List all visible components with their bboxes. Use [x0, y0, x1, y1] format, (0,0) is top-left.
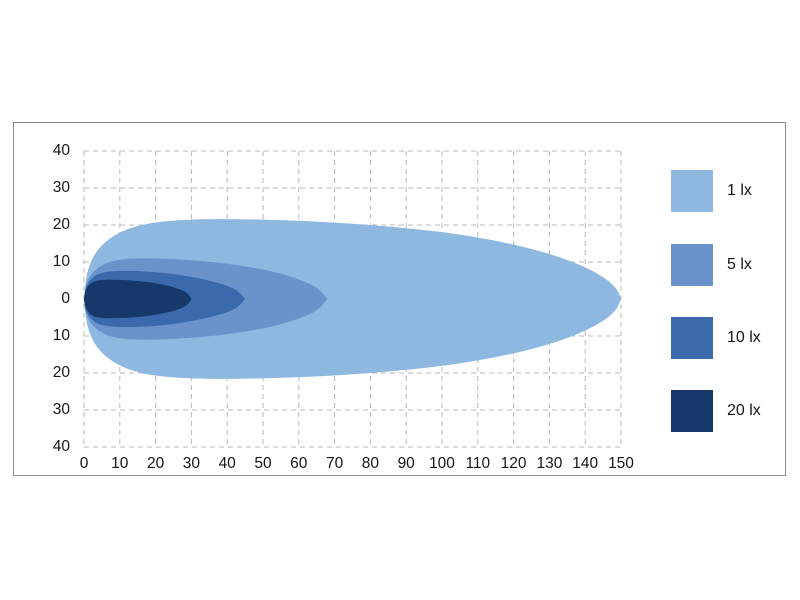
- x-tick-label: 40: [219, 456, 236, 472]
- y-tick-label: 40: [28, 143, 70, 159]
- y-tick-label: 0: [28, 291, 70, 307]
- legend-label-10lx: 10 lx: [727, 329, 761, 347]
- legend-item-10lx[interactable]: 10 lx: [671, 317, 761, 359]
- x-tick-label: 30: [183, 456, 200, 472]
- x-tick-label: 50: [254, 456, 271, 472]
- legend-item-20lx[interactable]: 20 lx: [671, 390, 761, 432]
- y-tick-label: 30: [28, 402, 70, 418]
- legend-item-5lx[interactable]: 5 lx: [671, 244, 752, 286]
- legend-label-1lx: 1 lx: [727, 182, 752, 200]
- x-tick-label: 10: [111, 456, 128, 472]
- x-tick-label: 130: [536, 456, 562, 472]
- legend-swatch-1lx: [671, 170, 713, 212]
- x-tick-label: 100: [429, 456, 455, 472]
- y-tick-label: 30: [28, 180, 70, 196]
- y-tick-label: 20: [28, 217, 70, 233]
- legend-swatch-20lx: [671, 390, 713, 432]
- x-tick-label: 60: [290, 456, 307, 472]
- y-tick-label: 10: [28, 254, 70, 270]
- legend-swatch-10lx: [671, 317, 713, 359]
- light-distribution-chart-page: 40302010010203040 0102030405060708090100…: [0, 0, 800, 600]
- x-tick-label: 0: [80, 456, 89, 472]
- x-tick-label: 90: [398, 456, 415, 472]
- x-tick-label: 120: [501, 456, 527, 472]
- x-tick-label: 140: [572, 456, 598, 472]
- x-tick-label: 70: [326, 456, 343, 472]
- legend-item-1lx[interactable]: 1 lx: [671, 170, 752, 212]
- legend: 1 lx 5 lx 10 lx 20 lx: [671, 150, 781, 450]
- y-tick-label: 40: [28, 439, 70, 455]
- x-tick-label: 20: [147, 456, 164, 472]
- legend-swatch-5lx: [671, 244, 713, 286]
- x-tick-label: 110: [465, 456, 490, 472]
- legend-label-20lx: 20 lx: [727, 402, 761, 420]
- y-tick-label: 10: [28, 328, 70, 344]
- legend-label-5lx: 5 lx: [727, 256, 752, 274]
- x-tick-label: 80: [362, 456, 379, 472]
- y-tick-label: 20: [28, 365, 70, 381]
- x-tick-label: 150: [608, 456, 634, 472]
